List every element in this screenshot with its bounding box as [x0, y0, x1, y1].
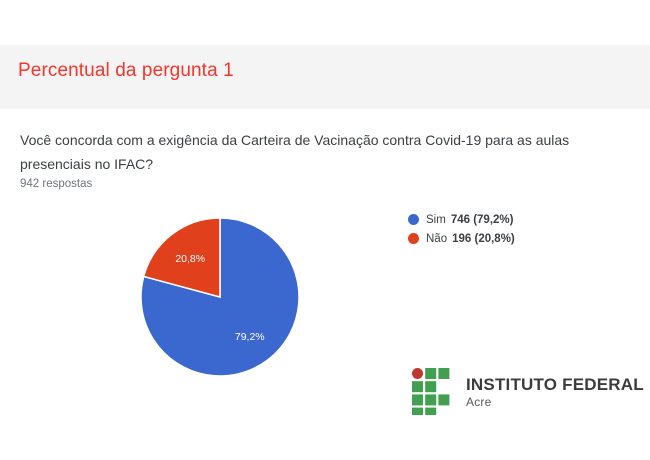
ifac-logo-text: INSTITUTO FEDERAL Acre — [466, 376, 644, 408]
legend-item-nao[interactable]: Não 196 (20,8%) — [408, 229, 618, 248]
ifac-logo-title: INSTITUTO FEDERAL — [466, 376, 644, 393]
legend-item-sim[interactable]: Sim 746 (79,2%) — [408, 210, 618, 229]
legend-value-sim: 746 (79,2%) — [451, 214, 514, 226]
pie-slice-label-nao: 20,8% — [175, 253, 205, 265]
form-result-card: Você concorda com a exigência da Carteir… — [0, 110, 650, 460]
chart-legend: Sim 746 (79,2%) Não 196 (20,8%) — [408, 210, 618, 248]
page-title: Percentual da pergunta 1 — [18, 60, 234, 82]
pie-slices — [141, 218, 299, 376]
ifac-logo-subtitle: Acre — [466, 396, 644, 408]
ifac-logo: INSTITUTO FEDERAL Acre — [412, 368, 644, 415]
response-count-label: 942 respostas — [20, 178, 92, 190]
pie-chart-svg: 79,2% 20,8% — [140, 217, 300, 377]
pie-slice-label-sim: 79,2% — [235, 331, 265, 343]
pie-chart: 79,2% 20,8% — [140, 217, 300, 377]
legend-label-nao: Não — [426, 233, 447, 245]
ifac-logo-mark-icon — [412, 368, 454, 415]
question-text: Você concorda com a exigência da Carteir… — [20, 128, 600, 176]
legend-label-sim: Sim — [426, 214, 446, 226]
legend-dot-sim — [408, 214, 419, 225]
legend-dot-nao — [408, 233, 419, 244]
legend-value-nao: 196 (20,8%) — [452, 233, 515, 245]
